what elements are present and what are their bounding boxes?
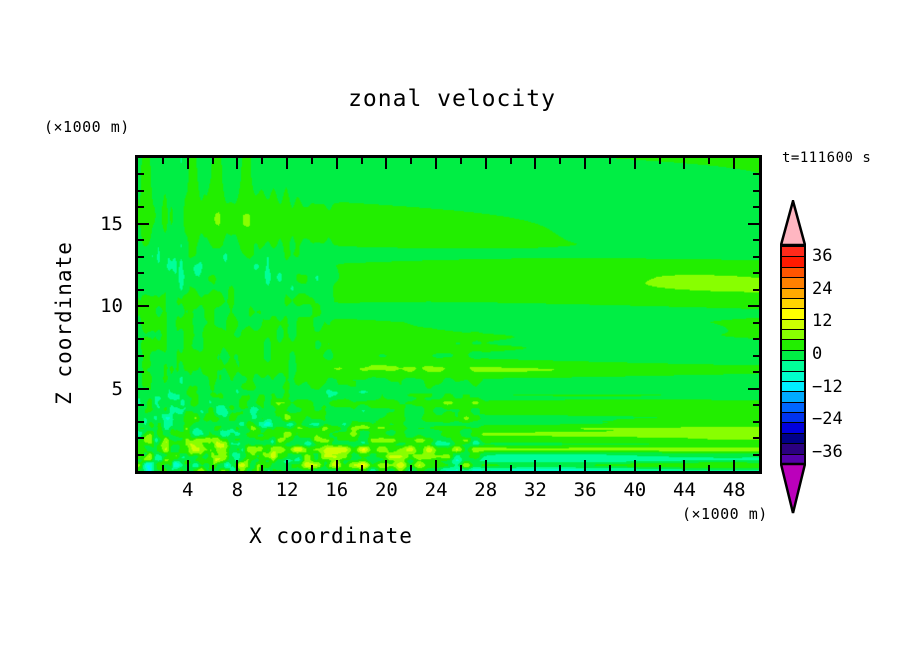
colorbar-segment [782, 392, 804, 402]
x-tick-minor [162, 465, 164, 471]
x-tick-minor-top [311, 158, 313, 164]
timestamp-label: t=111600 s [782, 150, 871, 166]
x-tick-minor [609, 465, 611, 471]
colorbar-segment [782, 268, 804, 278]
y-tick-minor [138, 355, 144, 357]
x-tick-minor-top [659, 158, 661, 164]
colorbar-segment [782, 299, 804, 309]
colorbar-tick-label: 12 [812, 311, 832, 331]
y-tick-minor-right [753, 190, 759, 192]
y-tick-label: 10 [73, 295, 123, 317]
colorbar-segment [782, 247, 804, 257]
colorbar-segment [782, 257, 804, 267]
x-tick-major-top [683, 158, 685, 169]
x-tick-major-top [584, 158, 586, 169]
contour-plot-area [135, 155, 762, 474]
colorbar-segment [782, 403, 804, 413]
x-tick-minor [311, 465, 313, 471]
y-tick-minor-right [753, 239, 759, 241]
x-tick-major-top [634, 158, 636, 169]
y-tick-minor-right [753, 437, 759, 439]
z-axis-unit-label: (×1000 m) [44, 118, 130, 136]
x-tick-minor [361, 465, 363, 471]
x-tick-major [336, 460, 338, 471]
x-tick-minor-top [261, 158, 263, 164]
x-tick-minor-top [510, 158, 512, 164]
y-tick-minor [138, 256, 144, 258]
x-tick-label: 48 [704, 479, 764, 501]
x-tick-major-top [336, 158, 338, 169]
y-tick-minor-right [753, 371, 759, 373]
y-tick-major-right [748, 388, 759, 390]
x-tick-minor-top [212, 158, 214, 164]
y-tick-minor [138, 322, 144, 324]
y-tick-minor [138, 239, 144, 241]
y-tick-minor [138, 437, 144, 439]
colorbar-segment [782, 340, 804, 350]
x-tick-major-top [435, 158, 437, 169]
colorbar-segment [782, 330, 804, 340]
x-tick-minor-top [609, 158, 611, 164]
colorbar-segment [782, 351, 804, 361]
colorbar-tick-label: −24 [812, 409, 843, 429]
x-tick-minor [659, 465, 661, 471]
x-tick-major [634, 460, 636, 471]
colorbar-segment [782, 413, 804, 423]
x-tick-major [385, 460, 387, 471]
x-tick-minor [559, 465, 561, 471]
x-tick-major-top [187, 158, 189, 169]
colorbar-arrow-up-icon [780, 200, 806, 246]
x-tick-major [534, 460, 536, 471]
y-tick-minor-right [753, 256, 759, 258]
page-title: zonal velocity [0, 86, 904, 112]
x-tick-minor-top [708, 158, 710, 164]
x-tick-minor [510, 465, 512, 471]
y-tick-minor-right [753, 289, 759, 291]
x-tick-major [187, 460, 189, 471]
y-tick-minor-right [753, 322, 759, 324]
y-tick-major-right [748, 305, 759, 307]
colorbar-segment [782, 320, 804, 330]
y-tick-minor-right [753, 421, 759, 423]
x-tick-major-top [286, 158, 288, 169]
x-tick-minor [212, 465, 214, 471]
x-tick-major-top [236, 158, 238, 169]
colorbar-tick-label: 0 [812, 344, 822, 364]
colorbar-tick-label: 24 [812, 279, 832, 299]
y-tick-minor [138, 173, 144, 175]
colorbar-segment [782, 289, 804, 299]
y-tick-minor-right [753, 355, 759, 357]
colorbar-segment [782, 278, 804, 288]
y-tick-minor-right [753, 454, 759, 456]
colorbar-segment [782, 309, 804, 319]
colorbar-segment [782, 361, 804, 371]
y-tick-minor-right [753, 272, 759, 274]
x-axis-unit-label: (×1000 m) [682, 505, 768, 523]
y-tick-minor-right [753, 206, 759, 208]
colorbar [780, 245, 806, 463]
x-tick-major [584, 460, 586, 471]
x-tick-minor-top [559, 158, 561, 164]
colorbar-segment [782, 372, 804, 382]
colorbar-tick-label: −36 [812, 442, 843, 462]
x-tick-major [236, 460, 238, 471]
x-tick-major-top [385, 158, 387, 169]
colorbar-under-cap [780, 462, 806, 514]
y-tick-minor [138, 454, 144, 456]
colorbar-arrow-down-icon [780, 462, 806, 514]
y-tick-minor [138, 206, 144, 208]
y-tick-minor-right [753, 338, 759, 340]
x-tick-minor [708, 465, 710, 471]
colorbar-segment [782, 444, 804, 454]
y-tick-major [138, 388, 149, 390]
y-tick-minor [138, 289, 144, 291]
x-tick-major-top [733, 158, 735, 169]
y-tick-minor [138, 190, 144, 192]
colorbar-over-cap [780, 200, 806, 246]
x-tick-major [683, 460, 685, 471]
y-tick-major-right [748, 223, 759, 225]
y-tick-major [138, 223, 149, 225]
y-tick-label: 5 [73, 378, 123, 400]
colorbar-tick-label: −12 [812, 377, 843, 397]
y-tick-minor [138, 371, 144, 373]
x-tick-major [286, 460, 288, 471]
colorbar-segment [782, 434, 804, 444]
x-tick-minor-top [410, 158, 412, 164]
x-tick-major [485, 460, 487, 471]
colorbar-tick-label: 36 [812, 246, 832, 266]
y-tick-minor [138, 338, 144, 340]
x-axis-title: X coordinate [0, 524, 662, 548]
y-tick-minor [138, 404, 144, 406]
x-tick-major-top [485, 158, 487, 169]
y-tick-minor [138, 421, 144, 423]
y-tick-label: 15 [73, 213, 123, 235]
y-tick-minor-right [753, 404, 759, 406]
velocity-field-heatmap [138, 158, 759, 471]
x-tick-minor [460, 465, 462, 471]
x-tick-minor-top [361, 158, 363, 164]
x-tick-major [733, 460, 735, 471]
x-tick-minor-top [460, 158, 462, 164]
x-tick-minor-top [162, 158, 164, 164]
y-tick-minor-right [753, 173, 759, 175]
figure-canvas: zonal velocity (×1000 m) t=111600 s (×10… [0, 0, 904, 654]
x-tick-minor [261, 465, 263, 471]
y-tick-minor [138, 272, 144, 274]
x-tick-minor [410, 465, 412, 471]
y-tick-major [138, 305, 149, 307]
colorbar-segment [782, 382, 804, 392]
x-tick-major [435, 460, 437, 471]
colorbar-segment [782, 423, 804, 433]
x-tick-major-top [534, 158, 536, 169]
